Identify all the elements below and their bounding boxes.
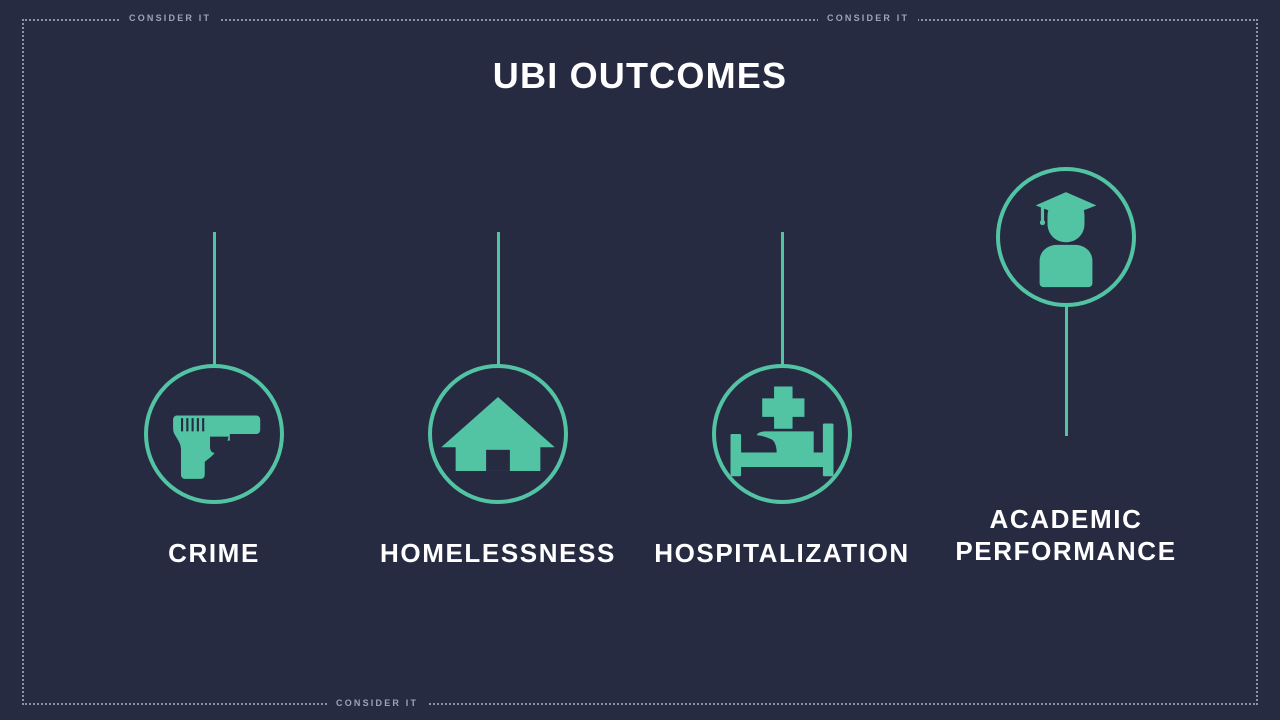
graduate-icon: [1000, 171, 1132, 303]
frame-label-bottom: CONSIDER IT: [327, 699, 427, 708]
hospitalization-stem: [781, 232, 784, 366]
academic-performance-icon-circle[interactable]: [996, 167, 1136, 307]
frame-label-top-right: CONSIDER IT: [818, 14, 918, 23]
homelessness-icon-circle[interactable]: [428, 364, 568, 504]
hospitalization-icon-circle[interactable]: [712, 364, 852, 504]
slide-canvas: CONSIDER IT CONSIDER IT CONSIDER IT UBI …: [0, 0, 1280, 720]
pistol-icon: [148, 368, 280, 500]
house-icon: [432, 368, 564, 500]
hospital-bed-icon: [716, 368, 848, 500]
homelessness-stem: [497, 232, 500, 366]
academic-performance-stem: [1065, 305, 1068, 436]
dotted-frame: [22, 19, 1258, 705]
academic-performance-label: ACADEMIC PERFORMANCE: [856, 504, 1276, 567]
frame-label-top-left: CONSIDER IT: [120, 14, 220, 23]
crime-stem: [213, 232, 216, 366]
crime-icon-circle[interactable]: [144, 364, 284, 504]
page-title: UBI OUTCOMES: [0, 55, 1280, 97]
